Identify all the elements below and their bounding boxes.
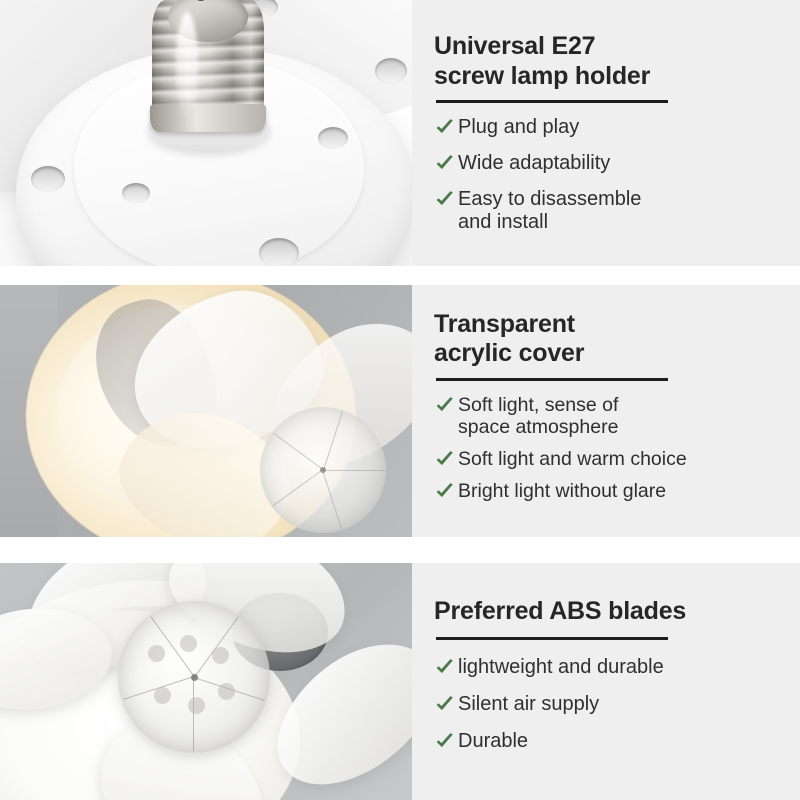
- panel-separator: [0, 537, 800, 563]
- check-icon: [434, 730, 455, 752]
- fan-hub: [260, 407, 386, 533]
- transparent-acrylic-cover-photo: [0, 285, 412, 537]
- feature-bullet-list: Plug and play Wide adaptability Easy to …: [434, 116, 786, 233]
- check-icon: [434, 152, 455, 174]
- list-item-label: lightweight and durable: [458, 656, 664, 679]
- list-item-label: Bright light without glare: [458, 480, 666, 502]
- list-item-label: Wide adaptability: [458, 152, 610, 175]
- led-dot: [180, 635, 197, 652]
- check-icon: [434, 394, 455, 416]
- list-item: Durable: [434, 730, 786, 753]
- hub-spoke: [323, 411, 343, 470]
- list-item: Soft light, sense of space atmosphere: [434, 394, 786, 438]
- panel-heading: Transparent acrylic cover: [434, 310, 786, 369]
- list-item-label: Soft light and warm choice: [458, 448, 687, 470]
- check-icon: [434, 480, 455, 502]
- heading-divider: [436, 378, 668, 381]
- list-item: Soft light and warm choice: [434, 448, 786, 470]
- list-item: Wide adaptability: [434, 152, 786, 175]
- feature-text-column: Transparent acrylic cover Soft light, se…: [412, 285, 800, 537]
- panel-heading: Universal E27 screw lamp holder: [434, 32, 786, 91]
- panel-heading: Preferred ABS blades: [434, 597, 786, 627]
- led-dot: [154, 687, 171, 704]
- hub-spoke: [193, 677, 194, 751]
- check-icon: [434, 656, 455, 678]
- metal-glare-highlight: [176, 12, 198, 118]
- socket-collar: [150, 104, 266, 132]
- led-dot: [188, 697, 205, 714]
- feature-panel-abs-blades: Preferred ABS blades lightweight and dur…: [0, 563, 800, 800]
- product-feature-page: Universal E27 screw lamp holder Plug and…: [0, 0, 800, 800]
- led-dot: [148, 645, 165, 662]
- list-item: lightweight and durable: [434, 656, 786, 679]
- hub-spoke: [272, 469, 323, 506]
- list-item: Plug and play: [434, 116, 786, 139]
- e27-screw-lamp-holder-photo: [0, 0, 412, 266]
- list-item-label: Easy to disassemble and install: [458, 188, 641, 234]
- led-dot: [212, 647, 229, 664]
- fan-hub: [118, 601, 270, 753]
- list-item: Silent air supply: [434, 693, 786, 716]
- feature-panel-lamp-holder: Universal E27 screw lamp holder Plug and…: [0, 0, 800, 266]
- panel-separator: [0, 266, 800, 285]
- hub-spoke: [322, 470, 342, 529]
- screw-hole: [31, 166, 65, 192]
- list-item: Bright light without glare: [434, 480, 786, 502]
- screw-hole: [318, 127, 348, 149]
- hub-spoke: [273, 433, 324, 470]
- screw-hole: [375, 58, 407, 84]
- screw-hole: [122, 183, 150, 203]
- heading-divider: [436, 100, 668, 103]
- feature-bullet-list: Soft light, sense of space atmosphere So…: [434, 394, 786, 513]
- feature-text-column: Universal E27 screw lamp holder Plug and…: [412, 0, 800, 266]
- screw-hole: [259, 238, 299, 266]
- hub-spoke: [323, 470, 385, 471]
- list-item-label: Silent air supply: [458, 693, 599, 716]
- list-item-label: Plug and play: [458, 116, 579, 139]
- feature-bullet-list: lightweight and durable Silent air suppl…: [434, 656, 786, 766]
- abs-blades-photo: [0, 563, 412, 800]
- check-icon: [434, 116, 455, 138]
- list-item-label: Soft light, sense of space atmosphere: [458, 394, 618, 438]
- check-icon: [434, 188, 455, 210]
- feature-panel-acrylic-cover: Transparent acrylic cover Soft light, se…: [0, 285, 800, 537]
- heading-divider: [436, 637, 668, 640]
- list-item: Easy to disassemble and install: [434, 188, 786, 234]
- check-icon: [434, 693, 455, 715]
- check-icon: [434, 448, 455, 470]
- led-dot: [218, 683, 235, 700]
- feature-text-column: Preferred ABS blades lightweight and dur…: [412, 563, 800, 800]
- list-item-label: Durable: [458, 730, 528, 753]
